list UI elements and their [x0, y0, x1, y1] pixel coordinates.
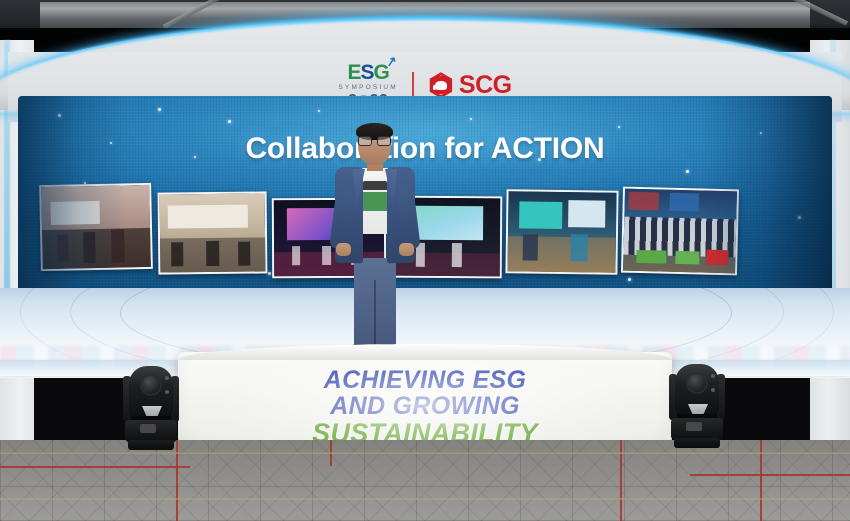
light-control-panel: [140, 424, 156, 433]
logo-divider: [412, 72, 414, 98]
speaker-hand-right: [399, 243, 414, 256]
keynote-speaker: [327, 125, 423, 360]
speaker-trousers: [354, 258, 396, 346]
esg-letter-g: G↗: [374, 61, 389, 84]
moving-head-spotlight-left: [122, 362, 180, 458]
light-foot: [128, 440, 174, 450]
growth-arrow-icon: ↗: [385, 54, 397, 69]
conference-stage-photo: ESG↗ SYMPOSIUM 222 SCG: [0, 0, 850, 521]
light-lens-icon: [140, 374, 162, 396]
carpet-red-line: [690, 474, 850, 476]
scg-elephant-hexagon-icon: [428, 72, 454, 98]
led-left-curve-shading: [18, 96, 128, 292]
carpet-red-line: [0, 466, 190, 468]
light-control-panel: [686, 422, 702, 431]
moving-head-spotlight-right: [668, 360, 726, 456]
led-photo-round-table-discussion: [505, 189, 618, 275]
led-photo-seated-audience-session: [158, 191, 268, 274]
light-head: [129, 366, 173, 416]
light-beam-slot: [688, 404, 708, 414]
esg-letter-e: E: [347, 61, 360, 84]
light-head: [675, 364, 719, 414]
scg-logo: SCG: [428, 72, 512, 98]
banner-text-block: ACHIEVING ESG AND GROWING SUSTAINABILITY: [178, 368, 672, 448]
led-video-wall: Collaboration for ACTION: [18, 96, 832, 292]
banner-line-1: ACHIEVING ESG: [178, 368, 672, 394]
scg-wordmark: SCG: [459, 73, 512, 98]
banner-line-2: AND GROWING: [178, 394, 672, 420]
light-lens-icon: [686, 372, 708, 394]
speaker-tshirt-graphic: [363, 181, 387, 215]
light-beam-slot: [142, 406, 162, 416]
led-right-curve-shading: [702, 96, 832, 292]
eyeglasses-icon: [358, 136, 391, 144]
speaker-hand-left: [336, 243, 351, 256]
light-foot: [674, 438, 720, 448]
carpet-tan-line: [0, 498, 850, 500]
esg-wordmark: ESG↗: [347, 62, 388, 83]
esg-letter-s: S: [360, 61, 373, 84]
elephant-icon: [435, 81, 447, 90]
